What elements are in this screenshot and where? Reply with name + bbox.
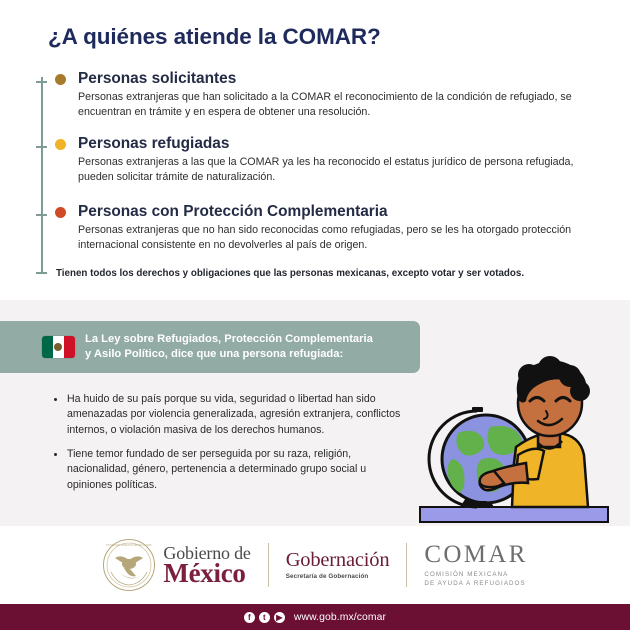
logo-divider — [268, 543, 269, 587]
law-banner-text: La Ley sobre Refugiados, Protección Comp… — [85, 332, 373, 362]
twitter-icon[interactable]: t — [259, 612, 270, 623]
category-item-refugiadas: Personas refugiadas Personas extranjeras… — [56, 135, 576, 185]
bottom-bar: f t ▶ www.gob.mx/comar — [0, 604, 630, 630]
comar-subtitle-line1: COMISIÓN MEXICANA — [424, 571, 527, 580]
timeline-tick — [36, 81, 47, 83]
timeline-rail — [41, 77, 43, 273]
timeline-tick — [36, 214, 47, 216]
list-item: Tiene temor fundado de ser perseguida po… — [54, 447, 414, 493]
gobierno-wordmark: Gobierno de México — [163, 544, 250, 587]
category-body: Personas extranjeras a las que la COMAR … — [78, 155, 576, 185]
list-item: Ha huido de su país porque su vida, segu… — [54, 392, 414, 438]
conditions-list: Ha huido de su país porque su vida, segu… — [54, 392, 414, 502]
gobernacion-subtitle: Secretaría de Gobernación — [286, 574, 390, 580]
gobierno-line2: México — [163, 560, 250, 587]
person-pointing-at-globe-illustration — [398, 355, 630, 530]
rights-note: Tienen todos los derechos y obligaciones… — [56, 268, 524, 279]
gobernacion-logo: Gobernación Secretaría de Gobernación — [286, 550, 390, 580]
category-body: Personas extranjeras que no han sido rec… — [78, 223, 576, 253]
law-banner-line2: y Asilo Político, dice que una persona r… — [85, 347, 373, 362]
gobierno-de-mexico-logo: ESTADOS UNIDOS MEXICANOS Gobierno de Méx… — [102, 538, 250, 592]
category-item-solicitantes: Personas solicitantes Personas extranjer… — [56, 70, 576, 120]
comar-title: COMAR — [424, 542, 527, 567]
gobernacion-title: Gobernación — [286, 550, 390, 571]
facebook-icon[interactable]: f — [244, 612, 255, 623]
page-title: ¿A quiénes atiende la COMAR? — [48, 24, 381, 50]
comar-subtitle: COMISIÓN MEXICANA DE AYUDA A REFUGIADOS — [424, 571, 527, 589]
youtube-icon[interactable]: ▶ — [274, 612, 285, 623]
infographic-page: ¿A quiénes atiende la COMAR? Personas so… — [0, 0, 630, 630]
top-section: ¿A quiénes atiende la COMAR? Personas so… — [0, 0, 630, 300]
comar-logo: COMAR COMISIÓN MEXICANA DE AYUDA A REFUG… — [424, 542, 527, 589]
law-banner: La Ley sobre Refugiados, Protección Comp… — [0, 321, 420, 373]
bullet-dot-icon — [55, 207, 66, 218]
mexico-flag-icon — [42, 336, 75, 358]
bullet-dot-icon — [55, 139, 66, 150]
timeline-tick — [36, 272, 47, 274]
category-heading: Personas con Protección Complementaria — [78, 203, 576, 221]
footer-logos: ESTADOS UNIDOS MEXICANOS Gobierno de Méx… — [0, 526, 630, 604]
category-item-proteccion-complementaria: Personas con Protección Complementaria P… — [56, 203, 576, 253]
comar-subtitle-line2: DE AYUDA A REFUGIADOS — [424, 580, 527, 589]
law-banner-line1: La Ley sobre Refugiados, Protección Comp… — [85, 332, 373, 347]
mexican-eagle-seal-icon: ESTADOS UNIDOS MEXICANOS — [102, 538, 156, 592]
logo-divider — [406, 543, 407, 587]
category-heading: Personas solicitantes — [78, 70, 576, 88]
bullet-dot-icon — [55, 74, 66, 85]
svg-text:ESTADOS UNIDOS MEXICANOS: ESTADOS UNIDOS MEXICANOS — [107, 543, 153, 547]
site-url-link[interactable]: www.gob.mx/comar — [294, 612, 386, 623]
timeline-tick — [36, 146, 47, 148]
category-body: Personas extranjeras que han solicitado … — [78, 90, 576, 120]
category-heading: Personas refugiadas — [78, 135, 576, 153]
